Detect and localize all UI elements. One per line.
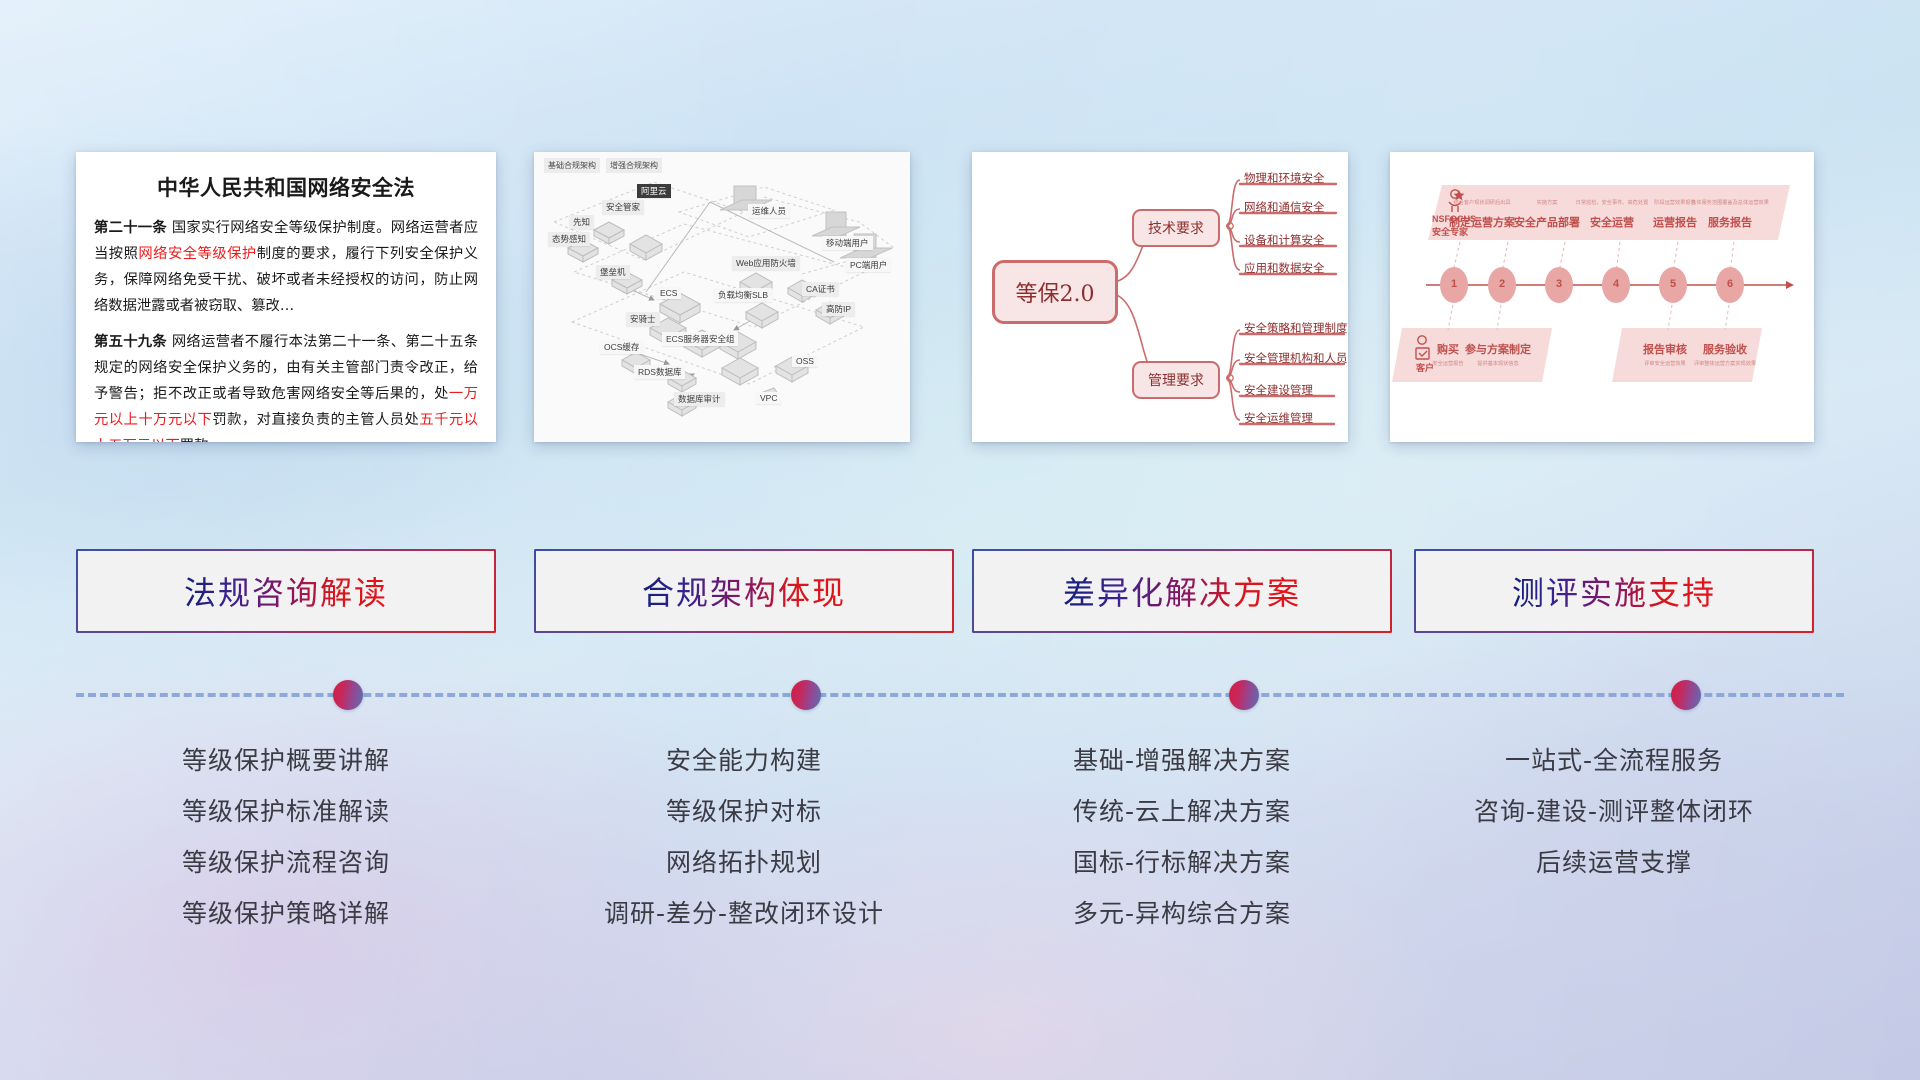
law-body-text: 罚款，对直接负责的主管人员处: [212, 412, 419, 428]
timeline-customer-role: 客户: [1416, 361, 1434, 374]
mindmap-leaf-label: 应用和数据安全: [1244, 260, 1325, 276]
mindmap-leaf-label: 安全运维管理: [1244, 410, 1313, 426]
mindmap-leaf-label: 安全策略和管理制度: [1244, 320, 1348, 336]
architecture-diagram: 基础合规架构 增强合规架构: [534, 152, 910, 442]
law-article-number: 第五十九条: [94, 334, 167, 350]
header-label: 合规架构体现: [642, 568, 846, 614]
timeline-dot-4[interactable]: [1671, 680, 1701, 710]
list-item: 咨询-建设-测评整体闭环: [1414, 786, 1814, 837]
timeline-top-label: 服务报告: [1708, 214, 1752, 230]
item-list-regulation-consulting: 等级保护概要讲解等级保护标准解读等级保护流程咨询等级保护策略详解: [76, 735, 496, 939]
list-item: 安全能力构建: [534, 735, 954, 786]
architecture-node-label: 移动端用户: [822, 236, 873, 250]
list-item: 后续运营支撑: [1414, 837, 1814, 888]
architecture-node-label: ECS服务器安全组: [662, 332, 738, 346]
timeline-step-number: 1: [1451, 278, 1457, 290]
architecture-node-label: RDS数据库: [634, 365, 685, 379]
header-box-differentiated-solution[interactable]: 差异化解决方案: [972, 549, 1392, 633]
column-item-lists: 等级保护概要讲解等级保护标准解读等级保护流程咨询等级保护策略详解 安全能力构建等…: [0, 735, 1920, 1035]
list-item: 多元-异构综合方案: [972, 888, 1392, 939]
timeline-dot-2[interactable]: [791, 680, 821, 710]
illustration-card-row: 中华人民共和国网络安全法 第二十一条 国家实行网络安全等级保护制度。网络运营者应…: [0, 0, 1920, 460]
architecture-node-label: 运维人员: [748, 204, 790, 218]
architecture-node-label: CA证书: [802, 282, 839, 296]
timeline-step-number: 3: [1556, 278, 1562, 290]
timeline-top-sublabel: 总体服务范围覆盖及总体运营效果: [1691, 199, 1769, 206]
architecture-node-label: PC端用户: [846, 258, 891, 272]
architecture-node-label: 负载均衡SLB: [714, 288, 772, 302]
timeline-top-label: 制定运营方案: [1449, 214, 1515, 230]
list-item: 国标-行标解决方案: [972, 837, 1392, 888]
law-article-number: 第二十一条: [94, 220, 167, 236]
timeline-bottom-label: 报告审核: [1643, 341, 1687, 357]
timeline-step-number: 2: [1499, 278, 1505, 290]
mindmap-leaf-label: 网络和通信安全: [1244, 199, 1325, 215]
timeline-bottom-sublabel: 安全运营报告: [1432, 360, 1463, 367]
architecture-node-label: 堡垒机: [596, 265, 630, 279]
timeline-dot-3[interactable]: [1229, 680, 1259, 710]
mindmap-diagram: 等保2.0 技术要求 管理要求 物理和环境安全网络和通信安全设备和计算安全应用和…: [972, 152, 1348, 442]
mindmap-leaf-label: 安全管理机构和人员: [1244, 350, 1348, 366]
list-item: 基础-增强解决方案: [972, 735, 1392, 786]
header-label: 测评实施支持: [1512, 568, 1716, 614]
mindmap-branch-management: 管理要求: [1132, 361, 1220, 399]
list-item: 传统-云上解决方案: [972, 786, 1392, 837]
card-dengbao-mindmap: 等保2.0 技术要求 管理要求 物理和环境安全网络和通信安全设备和计算安全应用和…: [972, 152, 1348, 442]
timeline-bottom-sublabel: 评审安全运营效果: [1644, 360, 1686, 367]
item-list-compliance-architecture: 安全能力构建等级保护对标网络拓扑规划调研-差分-整改闭环设计: [534, 735, 954, 939]
card-cloud-architecture: 基础合规架构 增强合规架构: [534, 152, 910, 442]
mindmap-branch-technical: 技术要求: [1132, 209, 1220, 247]
law-body-text: 罚款。: [180, 438, 223, 442]
architecture-node-label: OSS: [792, 355, 818, 367]
list-item: 等级保护概要讲解: [76, 735, 496, 786]
header-box-compliance-architecture[interactable]: 合规架构体现: [534, 549, 954, 633]
timeline-bottom-label: 购买: [1437, 341, 1459, 357]
process-timeline: [76, 693, 1844, 697]
architecture-node-label: 阿里云: [637, 184, 671, 198]
header-box-assessment-support[interactable]: 测评实施支持: [1414, 549, 1814, 633]
law-paragraph-59: 第五十九条 网络运营者不履行本法第二十一条、第二十五条规定的网络安全保护义务的，…: [94, 329, 478, 442]
timeline-top-sublabel: 日常巡检、安全事件、高危处置: [1576, 199, 1649, 206]
law-highlight-text: 网络安全等级保护: [138, 246, 256, 262]
list-item: 等级保护标准解读: [76, 786, 496, 837]
service-timeline-graphics: [1390, 152, 1814, 442]
law-text-body: 中华人民共和国网络安全法 第二十一条 国家实行网络安全等级保护制度。网络运营者应…: [76, 152, 496, 442]
card-service-process: NSFOCUS安全专家客户制定运营方案结合客户现状调研后出具安全产品部署实施方案…: [1390, 152, 1814, 442]
timeline-dot-1[interactable]: [333, 680, 363, 710]
list-item: 等级保护对标: [534, 786, 954, 837]
architecture-node-label: 先知: [569, 215, 594, 229]
architecture-node-label: Web应用防火墙: [732, 256, 800, 270]
mindmap-leaf-label: 安全建设管理: [1244, 382, 1313, 398]
architecture-node-label: 态势感知: [548, 232, 590, 246]
architecture-node-label: 安全管家: [602, 200, 644, 214]
list-item: 调研-差分-整改闭环设计: [534, 888, 954, 939]
header-label: 差异化解决方案: [1063, 568, 1301, 614]
list-item: 网络拓扑规划: [534, 837, 954, 888]
list-item: 一站式-全流程服务: [1414, 735, 1814, 786]
timeline-bottom-label: 参与方案制定: [1465, 341, 1531, 357]
architecture-node-label: OCS缓存: [600, 340, 643, 354]
law-title: 中华人民共和国网络安全法: [94, 172, 478, 202]
law-paragraph-21: 第二十一条 国家实行网络安全等级保护制度。网络运营者应当按照网络安全等级保护制度…: [94, 215, 478, 319]
timeline-top-label: 安全运营: [1590, 214, 1634, 230]
mindmap-leaf-label: 设备和计算安全: [1244, 232, 1325, 248]
timeline-top-sublabel: 阶段运营效果报告: [1654, 199, 1696, 206]
list-item: 等级保护流程咨询: [76, 837, 496, 888]
item-list-differentiated-solution: 基础-增强解决方案传统-云上解决方案国标-行标解决方案多元-异构综合方案: [972, 735, 1392, 939]
mindmap-root-node: 等保2.0: [992, 260, 1118, 324]
timeline-bottom-sublabel: 评审整体运营方案实现效果: [1694, 360, 1756, 367]
timeline-top-sublabel: 结合客户现状调研后出具: [1453, 199, 1510, 206]
architecture-node-label: 高防IP: [822, 302, 855, 316]
architecture-node-label: 数据库审计: [674, 392, 725, 406]
timeline-top-label: 安全产品部署: [1514, 214, 1580, 230]
timeline-step-number: 5: [1670, 278, 1676, 290]
card-cybersecurity-law: 中华人民共和国网络安全法 第二十一条 国家实行网络安全等级保护制度。网络运营者应…: [76, 152, 496, 442]
timeline-top-sublabel: 实施方案: [1537, 199, 1558, 206]
item-list-assessment-support: 一站式-全流程服务咨询-建设-测评整体闭环后续运营支撑: [1414, 735, 1814, 888]
header-box-regulation-consulting[interactable]: 法规咨询解读: [76, 549, 496, 633]
timeline-top-label: 运营报告: [1653, 214, 1697, 230]
mindmap-leaf-label: 物理和环境安全: [1244, 170, 1325, 186]
timeline-bottom-sublabel: 提供基本现状信息: [1477, 360, 1519, 367]
header-label: 法规咨询解读: [184, 568, 388, 614]
timeline-step-number: 4: [1613, 278, 1619, 290]
service-timeline-diagram: NSFOCUS安全专家客户制定运营方案结合客户现状调研后出具安全产品部署实施方案…: [1390, 152, 1814, 442]
timeline-step-number: 6: [1727, 278, 1733, 290]
architecture-node-label: VPC: [756, 392, 781, 404]
architecture-node-label: ECS: [656, 287, 681, 299]
architecture-node-label: 安骑士: [626, 312, 660, 326]
list-item: 等级保护策略详解: [76, 888, 496, 939]
timeline-bottom-label: 服务验收: [1703, 341, 1747, 357]
